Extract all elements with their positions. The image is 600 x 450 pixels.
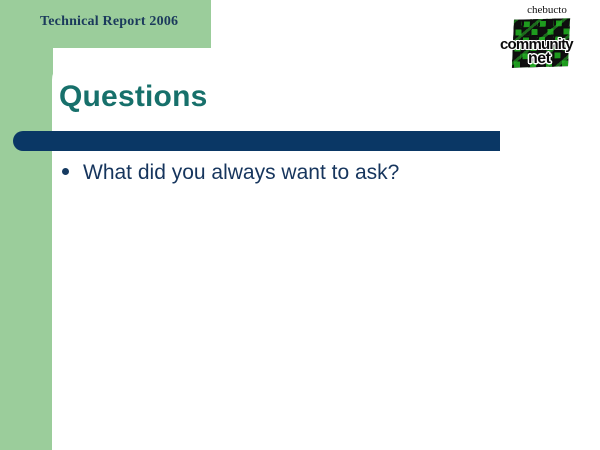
slide-header-label: Technical Report 2006 xyxy=(40,14,178,30)
page-title: Questions xyxy=(59,80,208,114)
slide-content-card xyxy=(52,58,600,450)
bullet-list: What did you always want to ask? xyxy=(62,160,562,186)
bullet-dot-icon xyxy=(62,168,69,175)
title-underline-bar xyxy=(13,131,500,151)
list-item: What did you always want to ask? xyxy=(62,160,562,186)
chebucto-community-net-logo: chebucto community net xyxy=(500,4,590,72)
logo-word-net: net xyxy=(528,50,551,68)
list-item-label: What did you always want to ask? xyxy=(83,160,399,186)
presentation-slide: Technical Report 2006 Questions What did… xyxy=(0,0,600,450)
logo-word-chebucto: chebucto xyxy=(512,4,582,16)
left-green-sidebar xyxy=(0,0,53,450)
